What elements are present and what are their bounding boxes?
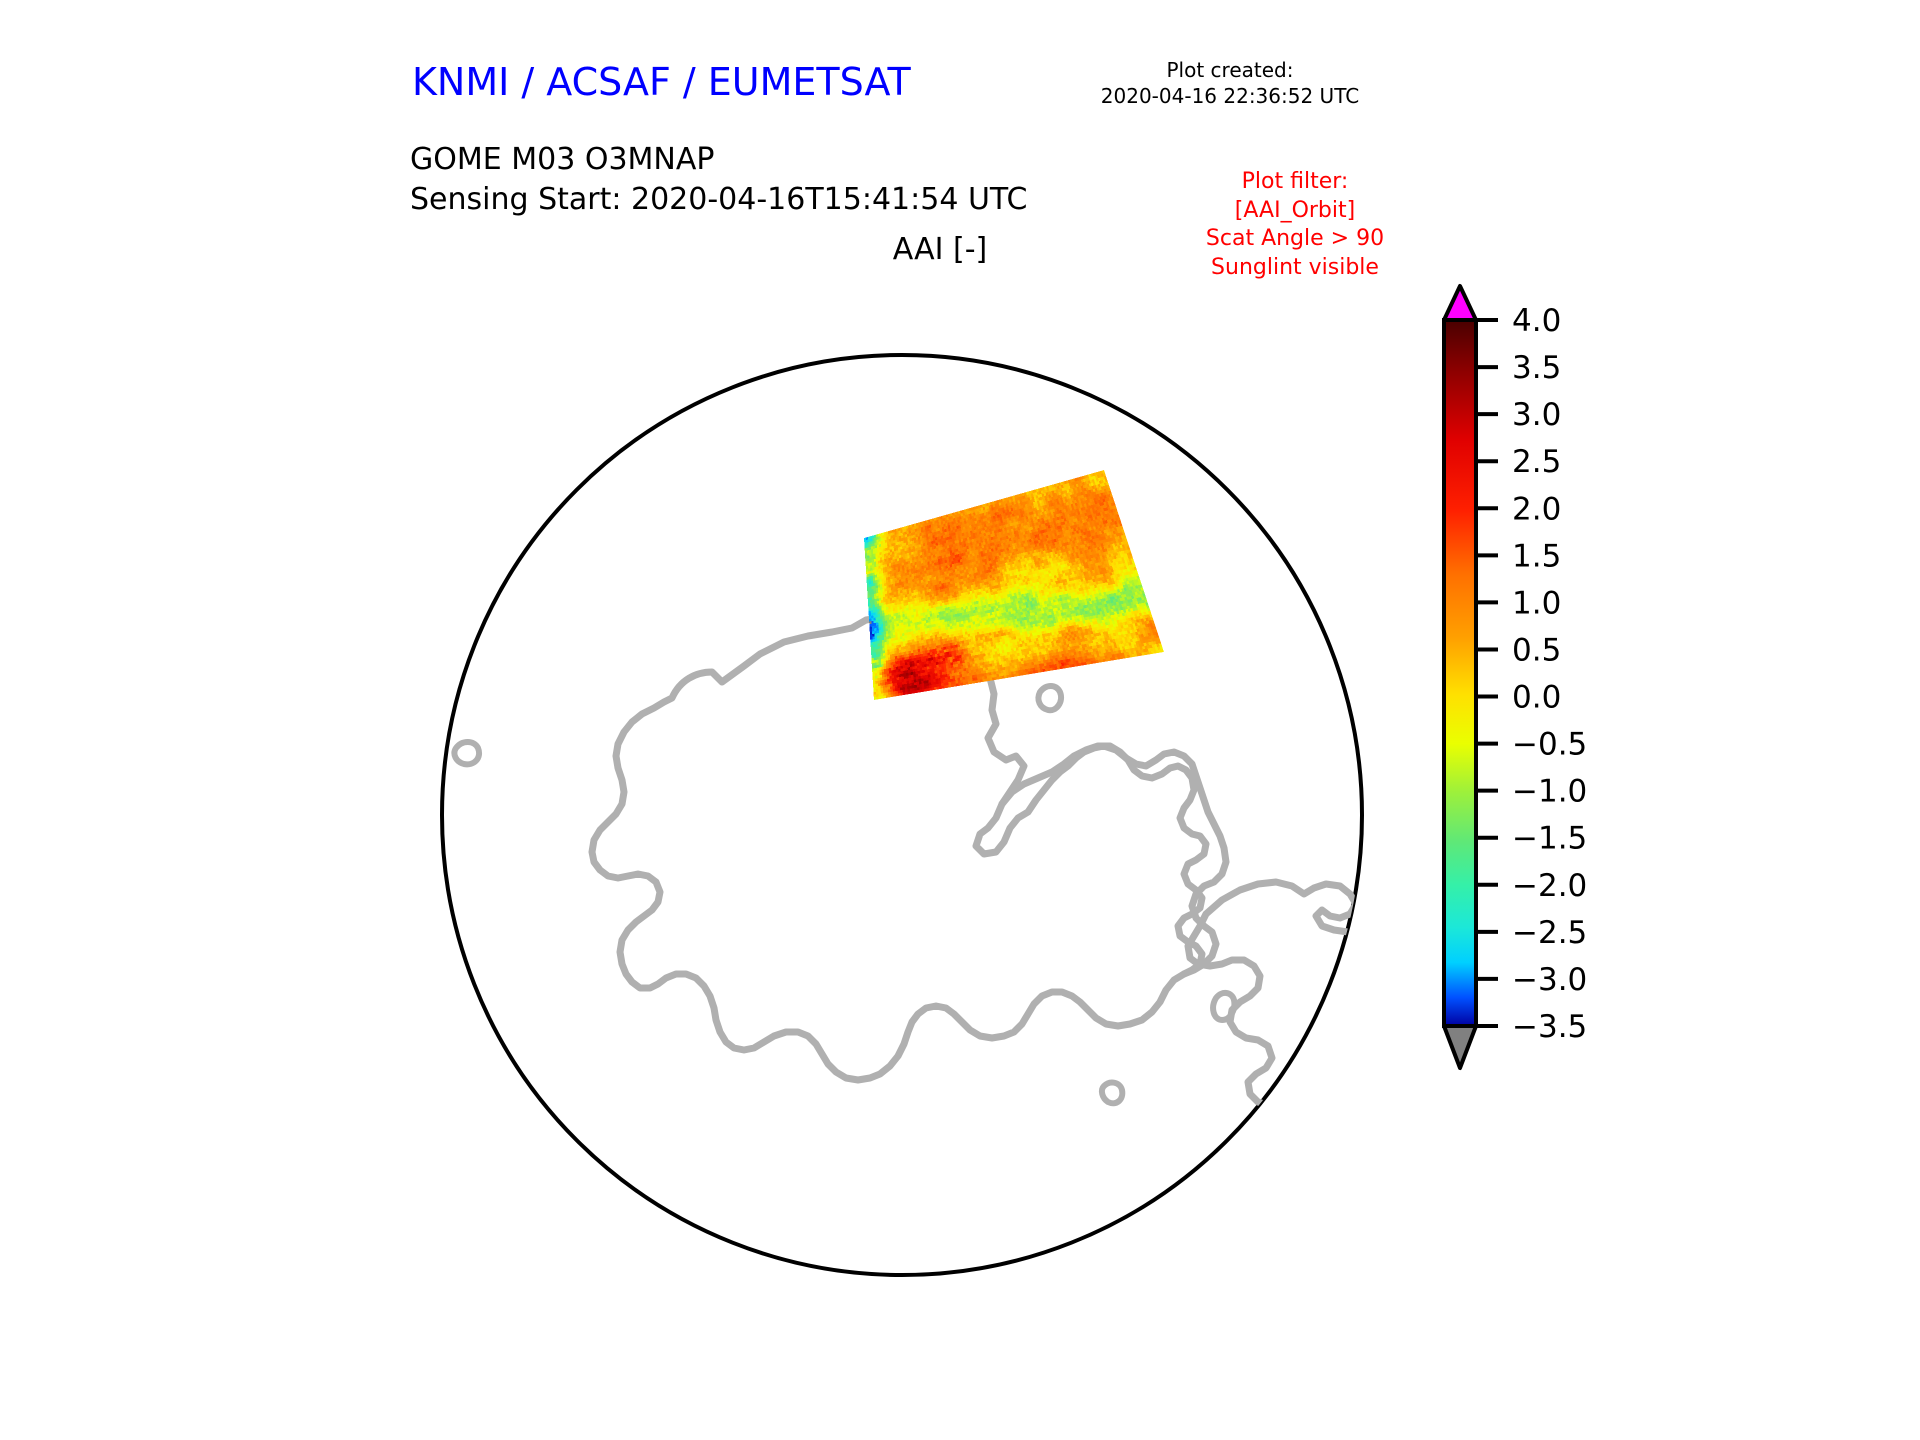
sensing-start-title: Sensing Start: 2020-04-16T15:41:54 UTC <box>410 180 1027 220</box>
colorbar-under-arrow <box>1444 1026 1476 1068</box>
coastline-fragment-1 <box>410 362 446 384</box>
colorbar-tick-label: 3.5 <box>1512 350 1561 386</box>
organization-header: KNMI / ACSAF / EUMETSAT <box>412 60 911 104</box>
colorbar-over-arrow <box>1444 286 1476 320</box>
coastline-new-zealand-south <box>622 304 700 392</box>
colorbar: 4.03.53.02.52.01.51.00.50.0−0.5−1.0−1.5−… <box>1430 278 1850 1098</box>
colorbar-tick-label: −2.0 <box>1512 868 1587 904</box>
plot-created-block: Plot created: 2020-04-16 22:36:52 UTC <box>1020 58 1440 109</box>
coastline-island-2 <box>1387 1103 1420 1136</box>
colorbar-gradient <box>1444 320 1476 1026</box>
polar-map <box>404 280 1424 1340</box>
map-svg <box>404 280 1424 1340</box>
colorbar-ticks: 4.03.53.02.52.01.51.00.50.0−0.5−1.0−1.5−… <box>1476 303 1587 1045</box>
globe-outline <box>442 355 1362 1275</box>
colorbar-tick-label: −1.5 <box>1512 821 1587 857</box>
colorbar-tick-label: 1.5 <box>1512 538 1561 574</box>
plot-created-timestamp: 2020-04-16 22:36:52 UTC <box>1020 84 1440 110</box>
plot-canvas: KNMI / ACSAF / EUMETSAT Plot created: 20… <box>0 0 1920 1440</box>
coastline-island-7 <box>1305 1101 1355 1139</box>
colorbar-tick-label: 2.0 <box>1512 491 1561 527</box>
colorbar-svg: 4.03.53.02.52.01.51.00.50.0−0.5−1.0−1.5−… <box>1430 278 1850 1098</box>
colorbar-tick-label: 4.0 <box>1512 303 1561 339</box>
colorbar-tick-label: −1.0 <box>1512 774 1587 810</box>
colorbar-tick-label: −0.5 <box>1512 727 1587 763</box>
title-block: GOME M03 O3MNAP Sensing Start: 2020-04-1… <box>410 140 1027 220</box>
plot-created-label: Plot created: <box>1020 58 1440 84</box>
coastline-island-5 <box>451 380 489 417</box>
colorbar-tick-label: 0.0 <box>1512 680 1561 716</box>
colorbar-tick-label: 2.5 <box>1512 444 1561 480</box>
colorbar-tick-label: 3.0 <box>1512 397 1561 433</box>
colorbar-tick-label: 0.5 <box>1512 632 1561 668</box>
colorbar-tick-label: −3.5 <box>1512 1009 1587 1045</box>
instrument-title: GOME M03 O3MNAP <box>410 140 1027 180</box>
plot-filter-heading: Plot filter: <box>1130 168 1460 197</box>
coastline-new-zealand-north <box>692 280 738 326</box>
plot-filter-condition: Scat Angle > 90 <box>1130 225 1460 254</box>
plot-filter-name: [AAI_Orbit] <box>1130 197 1460 226</box>
colorbar-tick-label: 1.0 <box>1512 585 1561 621</box>
plot-filter-note: Sunglint visible <box>1130 254 1460 283</box>
colorbar-tick-label: −2.5 <box>1512 915 1587 951</box>
plot-filter-block: Plot filter: [AAI_Orbit] Scat Angle > 90… <box>1130 168 1460 282</box>
colorbar-tick-label: −3.0 <box>1512 962 1587 998</box>
